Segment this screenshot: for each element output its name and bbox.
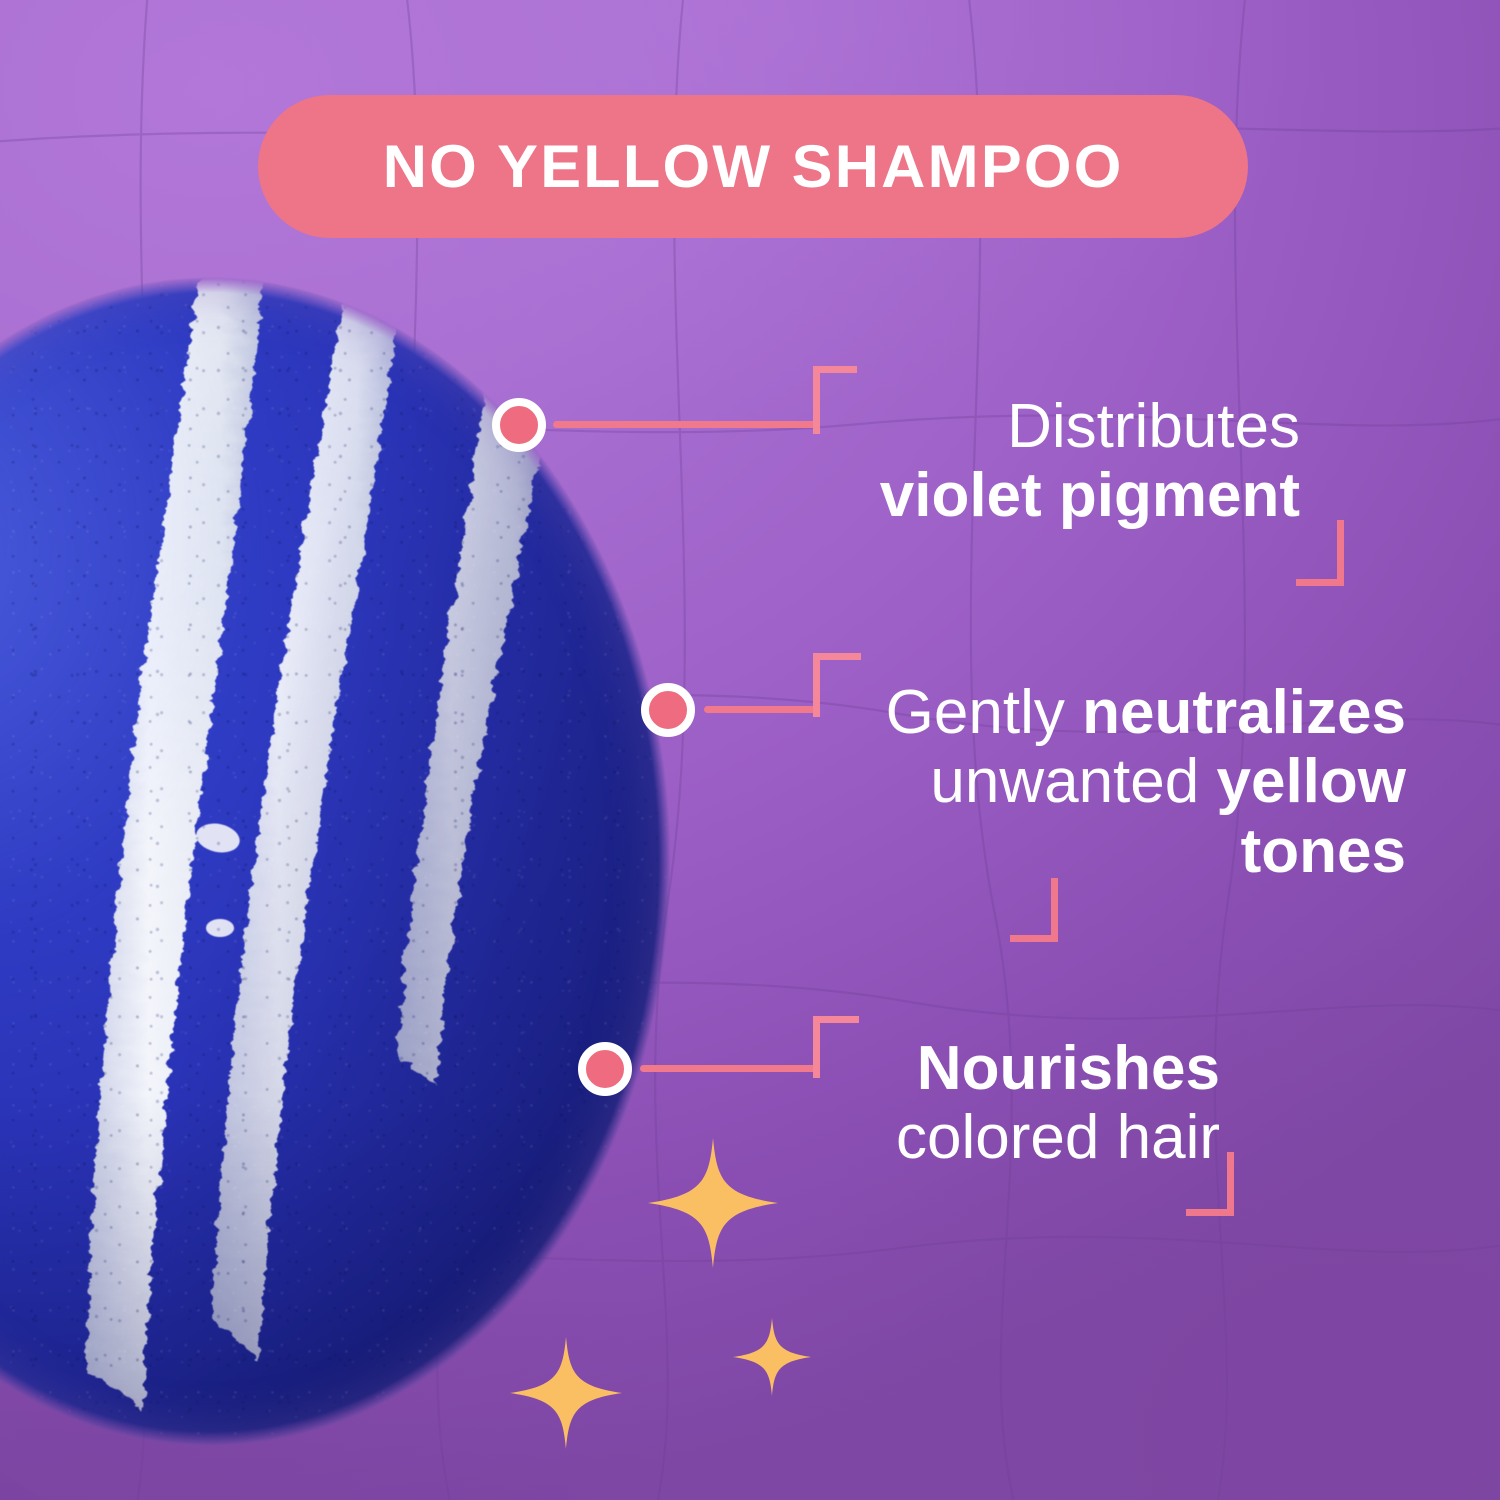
callout-text-2: Gently neutralizes unwanted yellow tones xyxy=(700,678,1406,886)
headline-badge: NO YELLOW SHAMPOO xyxy=(258,95,1248,238)
headline-text: NO YELLOW SHAMPOO xyxy=(383,132,1124,201)
sparkle-medium-icon xyxy=(510,1337,622,1449)
callout-dot-2[interactable] xyxy=(641,683,695,737)
callout-line-1-2: violet pigment xyxy=(880,461,1300,530)
callout-line-2-3: tones xyxy=(1241,817,1406,886)
callout-line-3-1: Nourishes xyxy=(917,1034,1220,1103)
callout-bracket-bottom-right-2 xyxy=(1010,878,1058,942)
callout-bracket-bottom-right-1 xyxy=(1296,520,1344,586)
callout-dot-1[interactable] xyxy=(492,398,546,452)
callout-text-1: Distributes violet pigment xyxy=(700,392,1300,531)
sparkle-small-icon xyxy=(733,1318,811,1396)
promo-graphic-canvas: NO YELLOW SHAMPOO Distributes violet pig… xyxy=(0,0,1500,1500)
callout-line-2-2: unwanted yellow xyxy=(930,747,1406,816)
callout-line-3-2: colored hair xyxy=(896,1103,1220,1172)
callout-line-1-1: Distributes xyxy=(1007,392,1300,461)
sparkle-large-icon xyxy=(648,1138,778,1268)
product-photo-circle xyxy=(0,278,670,1446)
callout-line-2-1: Gently neutralizes xyxy=(886,678,1406,747)
